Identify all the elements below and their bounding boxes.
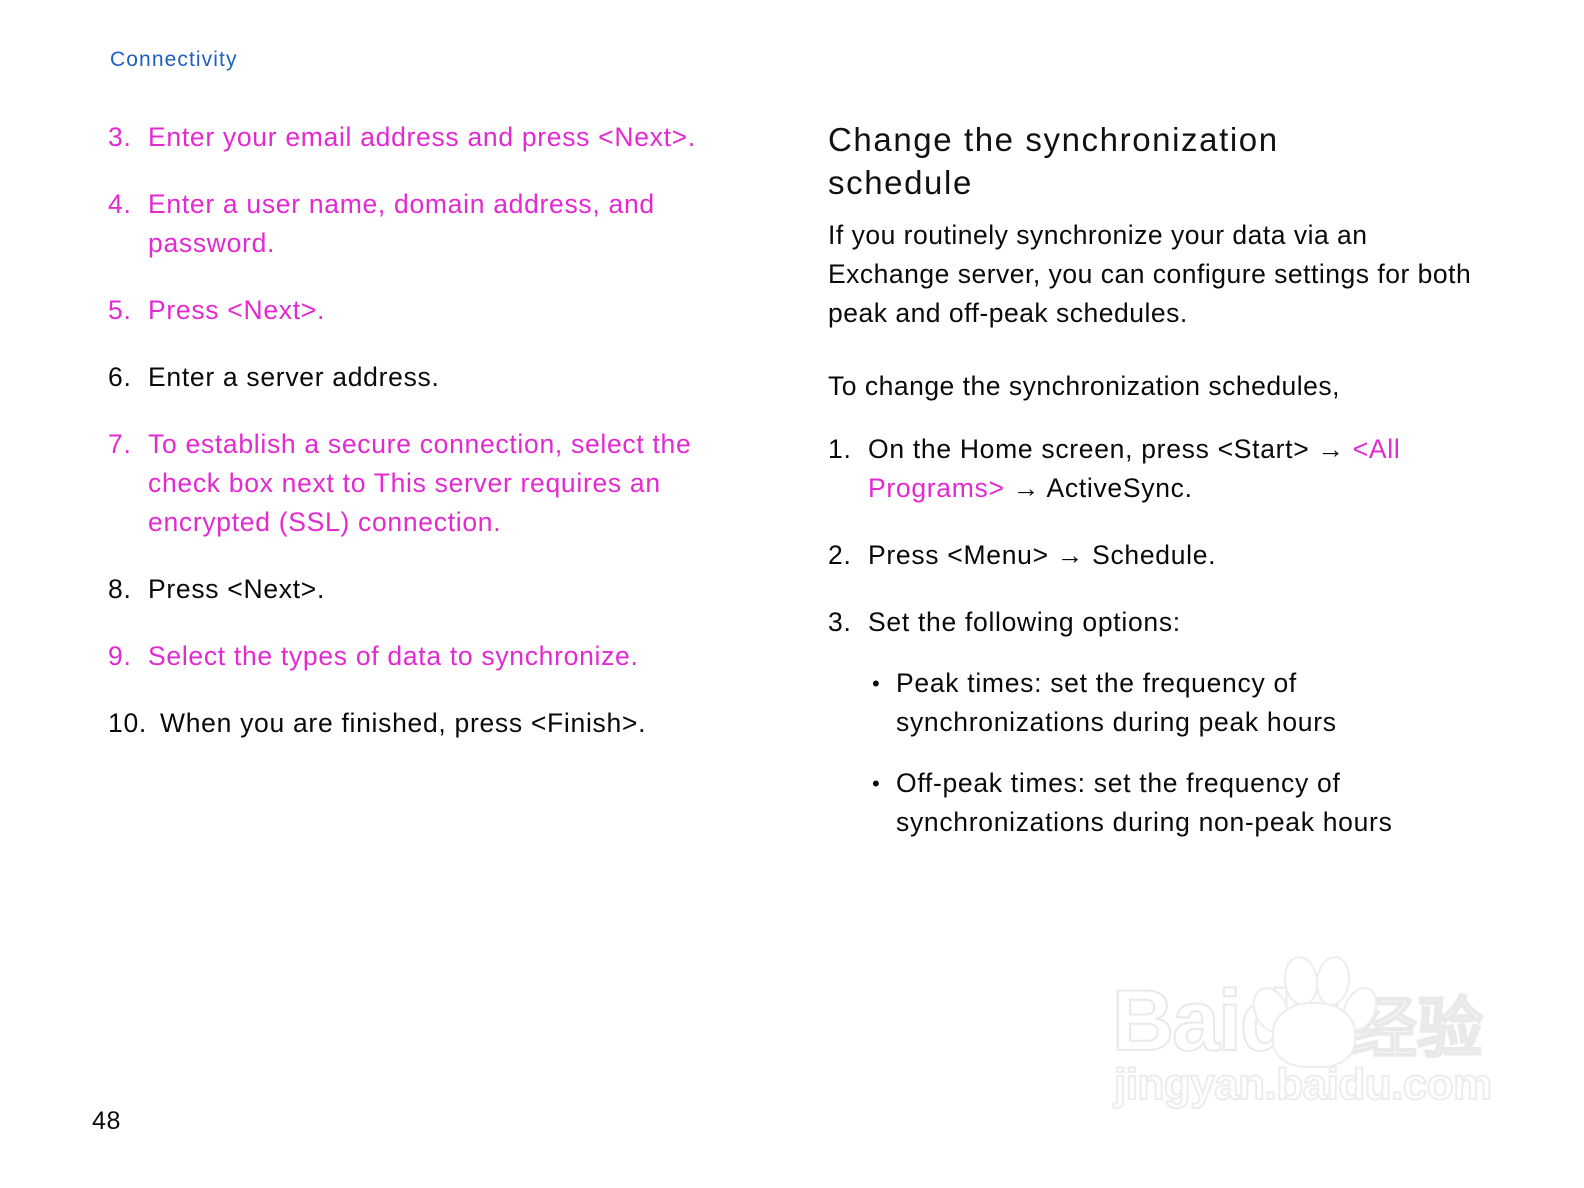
list-item: • Peak times: set the frequency of synch… [872,664,1476,742]
list-item-text: Press <Next>. [148,570,758,609]
list-item-text-segment: On the Home screen, press <Start> → [868,434,1353,464]
list-item-text: When you are finished, press <Finish>. [160,704,758,743]
baidu-watermark: Baidu 经验 jingyan.baidu.com [1100,950,1500,1120]
list-item-number: 3. [108,118,148,157]
list-item: 3. Enter your email address and press <N… [108,118,758,157]
bullet-icon: • [872,664,896,703]
list-item-number: 7. [108,425,148,464]
list-item-number: 5. [108,291,148,330]
list-item: • Off-peak times: set the frequency of s… [872,764,1476,842]
list-item: 7. To establish a secure connection, sel… [108,425,758,542]
list-item-text: Enter a user name, domain address, and p… [148,185,758,263]
list-item: 9. Select the types of data to synchroni… [108,637,758,676]
list-item: 5. Press <Next>. [108,291,758,330]
running-header: Connectivity [110,48,238,72]
bullet-icon: • [872,764,896,803]
list-item-text: Enter your email address and press <Next… [148,118,758,157]
list-item: 4. Enter a user name, domain address, an… [108,185,758,263]
lead-paragraph: If you routinely synchronize your data v… [828,216,1476,333]
list-item-number: 2. [828,536,868,575]
list-item-text-segment: → ActiveSync. [1005,473,1193,503]
list-item: 2. Press <Menu> → Schedule. [828,536,1476,575]
list-item: 8. Press <Next>. [108,570,758,609]
list-item: 3. Set the following options: [828,603,1476,642]
list-item-text: Set the following options: [868,603,1476,642]
list-item-number: 1. [828,430,868,469]
right-numbered-list: 1. On the Home screen, press <Start> → <… [828,430,1476,642]
bullet-item-text: Peak times: set the frequency of synchro… [896,664,1476,742]
intro-paragraph: To change the synchronization schedules, [828,367,1476,406]
list-item-text: Press <Menu> → Schedule. [868,536,1476,575]
list-item-number: 6. [108,358,148,397]
section-heading: Change the synchronization schedule [828,118,1428,204]
options-bullet-list: • Peak times: set the frequency of synch… [828,664,1476,842]
list-item-number: 4. [108,185,148,224]
left-column: 3. Enter your email address and press <N… [108,118,758,771]
watermark-brand-text: Baidu [1112,978,1341,1064]
list-item-number: 9. [108,637,148,676]
paw-print-icon [1250,950,1370,1050]
watermark-brand-row: Baidu 经验 [1112,968,1483,1064]
list-item: 6. Enter a server address. [108,358,758,397]
list-item-number: 10. [108,704,160,743]
list-item-number: 3. [828,603,868,642]
left-numbered-list: 3. Enter your email address and press <N… [108,118,758,743]
watermark-url-text: jingyan.baidu.com [1114,1062,1492,1108]
list-item-text: To establish a secure connection, select… [148,425,758,542]
list-item-text: Enter a server address. [148,358,758,397]
list-item-text: Press <Next>. [148,291,758,330]
page-number: 48 [92,1107,121,1136]
bullet-item-text: Off-peak times: set the frequency of syn… [896,764,1476,842]
list-item: 1. On the Home screen, press <Start> → <… [828,430,1476,508]
list-item: 10. When you are finished, press <Finish… [108,704,758,743]
watermark-brand-cn-text: 经验 [1351,994,1483,1064]
list-item-number: 8. [108,570,148,609]
list-item-text: On the Home screen, press <Start> → <All… [868,430,1476,508]
right-column: Change the synchronization schedule If y… [828,118,1476,864]
list-item-text: Select the types of data to synchronize. [148,637,758,676]
